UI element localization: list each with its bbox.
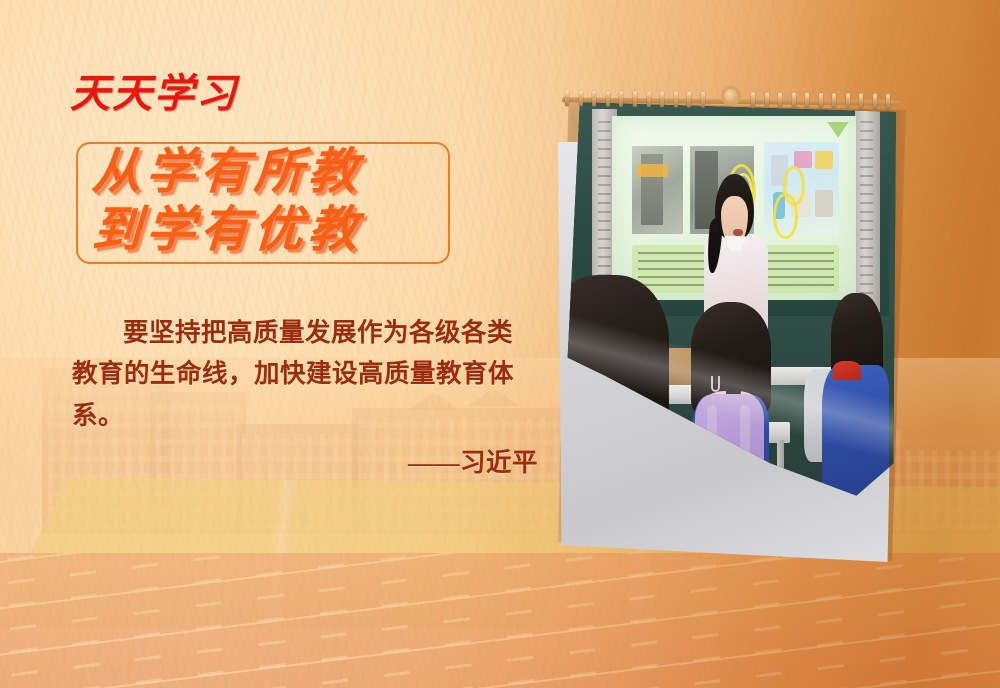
binding-ring — [819, 93, 823, 109]
calendar-hanging-loop — [721, 86, 741, 106]
page-title: 从学有所教 到学有优教 — [92, 148, 452, 264]
binding-ring — [579, 90, 583, 106]
binding-ring — [832, 93, 836, 109]
binding-ring — [751, 92, 755, 108]
binding-ring — [633, 91, 637, 107]
poster-canvas: 天天学习 从学有所教 到学有优教 要坚持把高质量发展作为各级各类教育的生命线，加… — [0, 0, 1000, 688]
binding-ring — [687, 92, 691, 108]
binding-ring — [565, 90, 569, 106]
binding-ring — [859, 93, 863, 109]
binding-ring — [673, 91, 677, 107]
title-line-1: 从学有所教 — [91, 148, 454, 197]
binding-ring — [646, 91, 650, 107]
brand-logo: 天天学习 — [70, 74, 238, 114]
binding-ring — [606, 91, 610, 107]
binding-ring — [619, 91, 623, 107]
calendar-photo — [552, 84, 904, 564]
spiral-binding — [562, 88, 900, 114]
quote-text: 要坚持把高质量发展作为各级各类教育的生命线，加快建设高质量教育体系。 — [72, 312, 538, 436]
binding-ring — [765, 92, 769, 108]
binding-ring — [792, 93, 796, 109]
title-line-2: 到学有优教 — [91, 206, 454, 255]
binding-ring — [660, 91, 664, 107]
binding-ring — [873, 93, 877, 109]
binding-ring — [592, 91, 596, 107]
binding-ring — [701, 92, 705, 108]
binding-ring — [778, 92, 782, 108]
binding-ring — [846, 93, 850, 109]
binding-ring — [886, 94, 890, 110]
quote-attribution: ——习近平 — [72, 442, 538, 479]
binding-ring — [805, 93, 809, 109]
quote-block: 要坚持把高质量发展作为各级各类教育的生命线，加快建设高质量教育体系。 — [72, 312, 538, 436]
